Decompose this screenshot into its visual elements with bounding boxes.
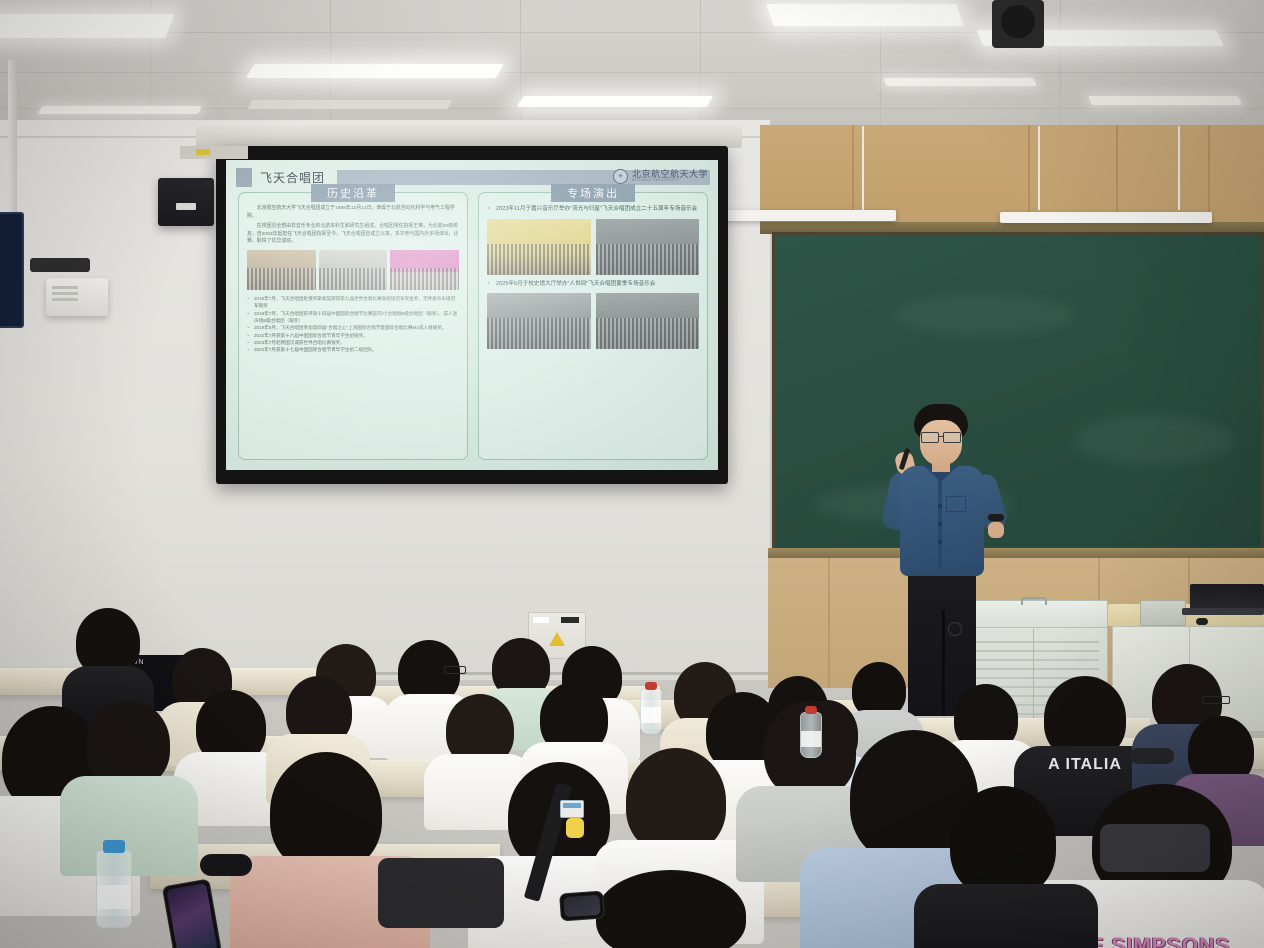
smartphone[interactable] bbox=[559, 890, 605, 921]
panel-concerts-header: 专场演出 bbox=[551, 184, 635, 202]
choir-performing-photo bbox=[596, 219, 700, 275]
eyeglasses-icon bbox=[920, 432, 962, 441]
choir-group-photo bbox=[319, 250, 388, 290]
presenter-right-hand bbox=[988, 522, 1004, 538]
cabinet-handle[interactable] bbox=[1021, 597, 1047, 605]
backpack[interactable] bbox=[378, 858, 504, 928]
water-bottle[interactable] bbox=[96, 850, 132, 928]
ceiling-light-panel bbox=[517, 96, 714, 107]
water-bottle[interactable] bbox=[640, 688, 662, 734]
list-item: 2022年7月获第十六届中国国际合唱节青年学生组银奖。 bbox=[247, 332, 459, 339]
light-wire bbox=[862, 126, 864, 210]
cable-tray bbox=[180, 146, 248, 159]
panel-history-header: 历史沿革 bbox=[311, 184, 395, 202]
university-name-en: BEIHANG UNIVERSITY bbox=[632, 179, 708, 182]
choir-stage-photo bbox=[390, 250, 459, 290]
choir-hall-photo bbox=[247, 250, 316, 290]
podium-laptop[interactable] bbox=[1190, 584, 1264, 610]
concert-photo-row-top bbox=[487, 219, 699, 275]
screen-roller-case bbox=[196, 126, 742, 148]
side-monitor[interactable] bbox=[0, 212, 24, 328]
ceiling-light-panel bbox=[1088, 96, 1242, 105]
ceiling-tile-grid bbox=[0, 0, 1264, 140]
list-item: 2023年7月赴韩国汉城获世界合唱比赛银奖。 bbox=[247, 339, 459, 346]
student bbox=[70, 700, 188, 870]
history-paragraph-2: 在校团员全部由非音乐专业的北航本科生和研究生组成，合唱团常任指挥王琳，为北航00… bbox=[247, 223, 459, 246]
projection-screen[interactable]: 飞天合唱团 ✈ 北京航空航天大学 BEIHANG UNIVERSITY 历史沿革… bbox=[216, 146, 728, 484]
bag-patch bbox=[560, 800, 584, 818]
laptop-base bbox=[1182, 608, 1264, 615]
presenter-face bbox=[920, 420, 962, 466]
glasses-case[interactable] bbox=[200, 854, 252, 876]
panel-concerts: 专场演出 2023年11月于嘉兴音乐厅举办"流光与归星"飞天合唱团成立二十五周年… bbox=[478, 192, 708, 460]
ceiling-light-panel bbox=[766, 4, 964, 26]
green-chalkboard bbox=[772, 232, 1264, 550]
glasses-case[interactable] bbox=[1130, 748, 1174, 764]
projector-mount-arm bbox=[30, 258, 90, 272]
slide-title: 飞天合唱团 bbox=[252, 169, 333, 186]
lecture-hall-scene: 飞天合唱团 ✈ 北京航空航天大学 BEIHANG UNIVERSITY 历史沿革… bbox=[0, 0, 1264, 948]
hanging-light-fixture bbox=[706, 210, 896, 221]
concert-bullet-2: 2025年5月于校史馆大厅举办"人世间"飞天合唱团夏季专场音乐会 bbox=[487, 280, 699, 290]
ceiling-mounted-projector bbox=[46, 278, 108, 316]
university-seal-icon: ✈ bbox=[613, 169, 628, 184]
light-wire bbox=[1178, 126, 1180, 210]
ceiling-light-panel bbox=[246, 64, 504, 78]
history-photo-row bbox=[247, 250, 459, 290]
eyeglasses-icon bbox=[1202, 696, 1230, 704]
student bbox=[930, 786, 1080, 948]
keychain-charm bbox=[566, 818, 584, 838]
backpack[interactable] bbox=[1100, 824, 1210, 872]
choir-group-photo-2 bbox=[596, 293, 700, 349]
list-item: 2024年7月获第十七届中国国际合唱节青年学生组二级团队。 bbox=[247, 346, 459, 353]
ceiling-light-panel bbox=[38, 106, 202, 114]
light-wire bbox=[1038, 126, 1040, 210]
concert-photo-row-bottom bbox=[487, 293, 699, 349]
ceiling-light-panel bbox=[0, 14, 175, 38]
list-item: 2018年7月，飞天合唱团获评第十四届中国国际合唱节比赛室内/小合唱组B级合唱团… bbox=[247, 310, 459, 325]
list-item: 2016年7月，飞天合唱团赴俄罗斯索契获得第九届世界合唱比赛高校组冠军奖金奖、无… bbox=[247, 295, 459, 310]
panel-history: 历史沿革 北京航空航天大学飞天合唱团成立于1998年12月12日，隶属于北航自动… bbox=[238, 192, 468, 460]
wristwatch bbox=[988, 514, 1004, 521]
history-paragraph-1: 北京航空航天大学飞天合唱团成立于1998年12月12日，隶属于北航自动化科学与电… bbox=[247, 205, 459, 220]
ceiling bbox=[0, 0, 1264, 140]
water-bottle[interactable] bbox=[800, 712, 822, 758]
mouse[interactable] bbox=[1196, 618, 1208, 625]
concert-hall-stage-photo bbox=[487, 219, 591, 275]
eyeglasses-icon bbox=[444, 666, 466, 674]
list-item: 2019年5月，飞天合唱团参加第四届"合唱之心"上海国际合唱节暨国际合唱比赛M1… bbox=[247, 324, 459, 331]
ceiling-speaker bbox=[992, 0, 1044, 48]
ceiling-air-vent bbox=[248, 100, 453, 109]
history-bullet-list: 2016年7月，飞天合唱团赴俄罗斯索契获得第九届世界合唱比赛高校组冠军奖金奖、无… bbox=[247, 295, 459, 354]
ceiling-light-panel bbox=[883, 78, 1037, 86]
hanging-light-fixture bbox=[1000, 212, 1212, 223]
header-accent-block bbox=[236, 168, 252, 187]
wall-speaker bbox=[158, 178, 214, 226]
control-tablet[interactable] bbox=[1140, 600, 1186, 626]
choir-group-photo-1 bbox=[487, 293, 591, 349]
slide-content: 飞天合唱团 ✈ 北京航空航天大学 BEIHANG UNIVERSITY 历史沿革… bbox=[226, 160, 718, 470]
slide-panels: 历史沿革 北京航空航天大学飞天合唱团成立于1998年12月12日，隶属于北航自动… bbox=[238, 192, 708, 460]
concert-bullet-1: 2023年11月于嘉兴音乐厅举办"流光与归星"飞天合唱团成立二十五周年专场音乐会 bbox=[487, 205, 699, 215]
